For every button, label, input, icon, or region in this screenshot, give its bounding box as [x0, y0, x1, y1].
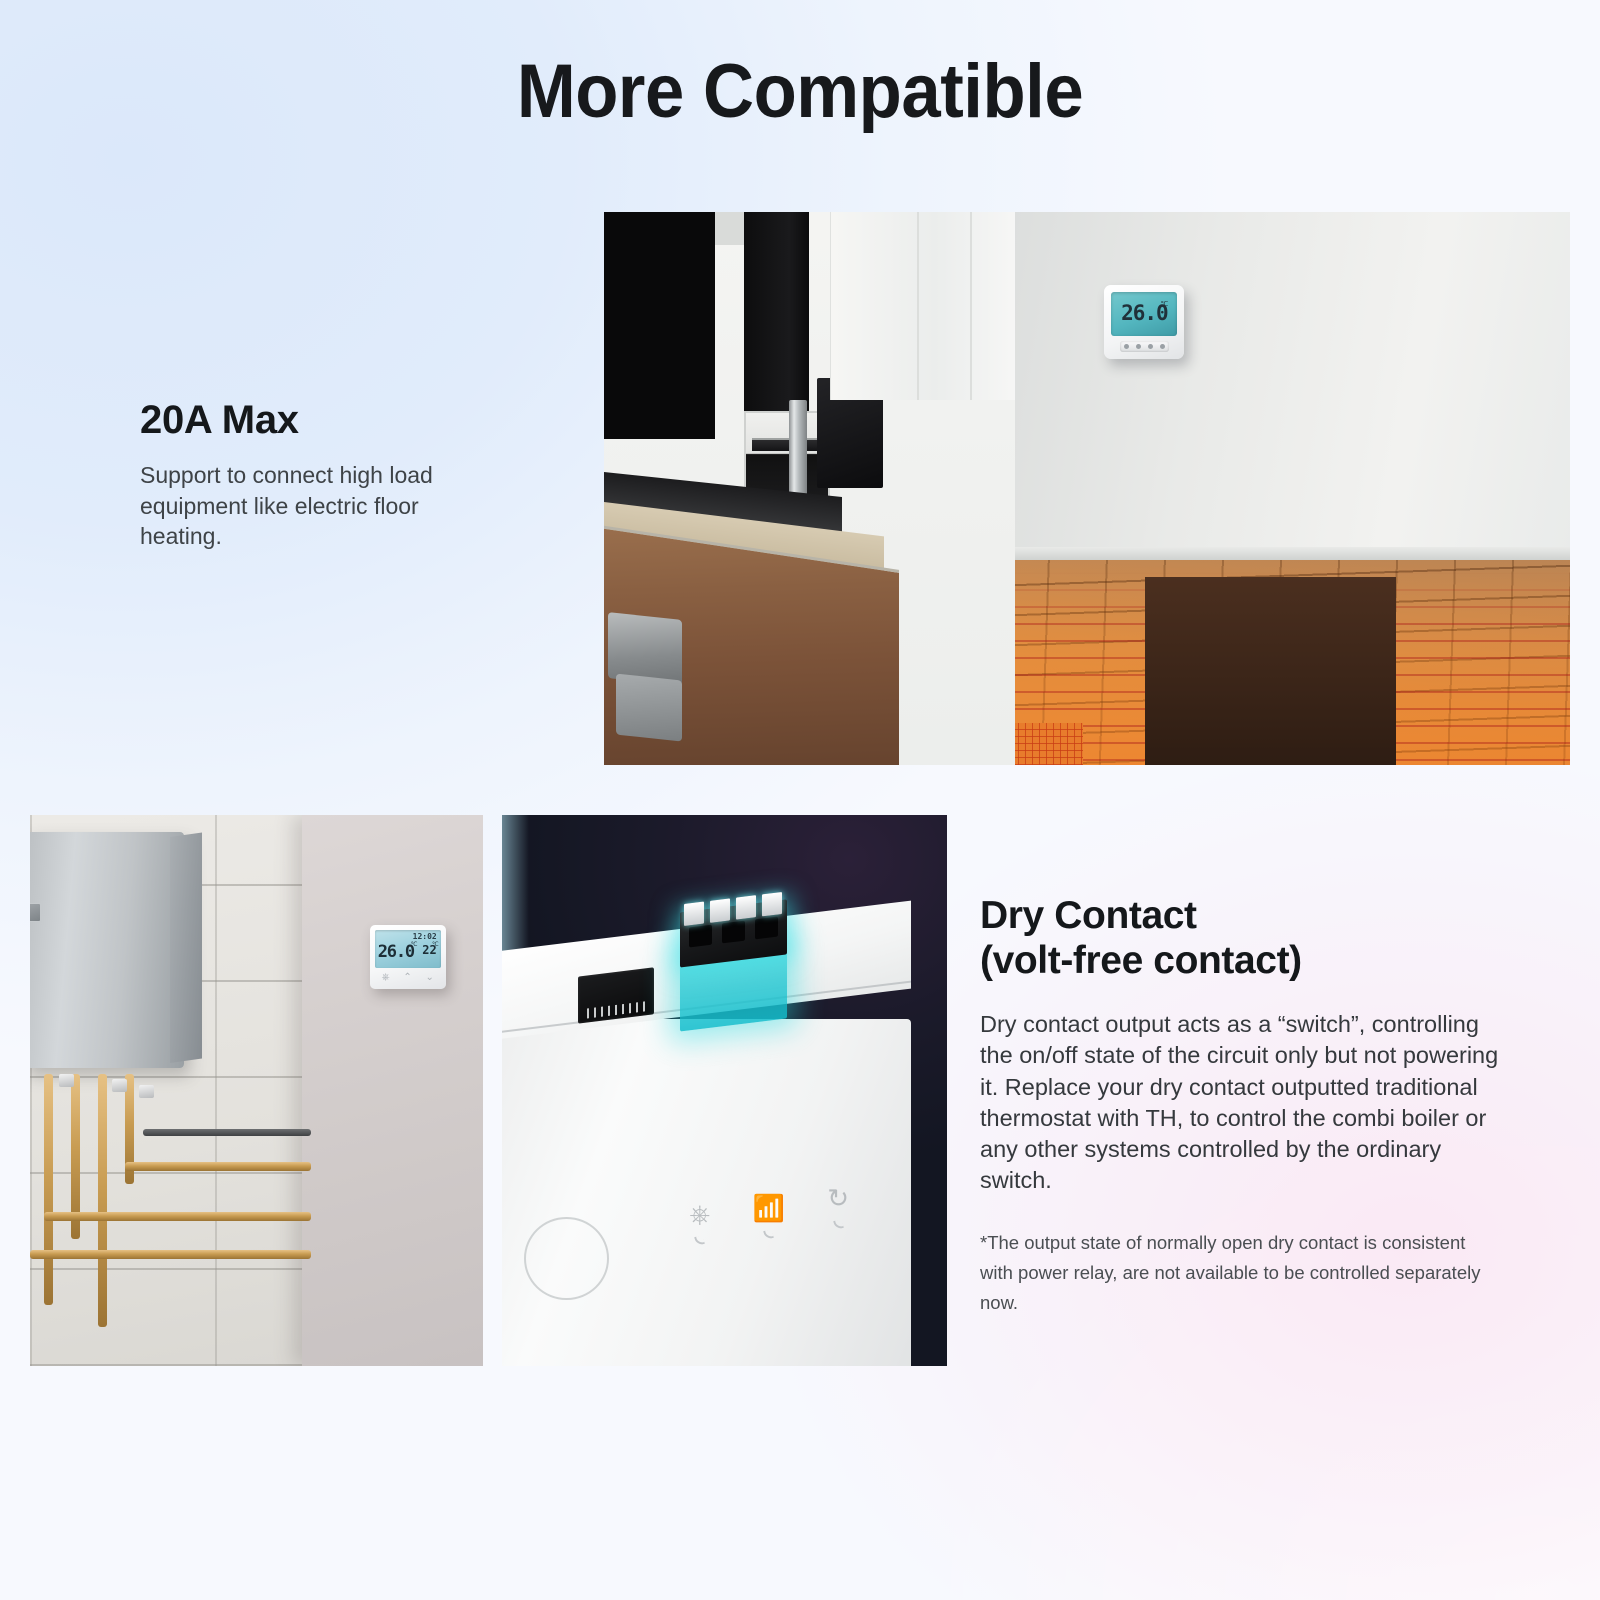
- feature-footnote-dry-contact: *The output state of normally open dry c…: [980, 1228, 1500, 1318]
- thermostat-touch-keys: ⎈ ⌃ ⌄: [375, 968, 441, 986]
- device-indicator-icons: ⎈ 📶 ↻: [676, 1201, 863, 1322]
- thermostat-key-icon: [1136, 344, 1141, 349]
- terminal-hole: [722, 921, 745, 944]
- copper-pipe-horizontal: [125, 1162, 311, 1171]
- kitchen-window-dark: [604, 212, 715, 439]
- boiler-side-face: [170, 833, 202, 1063]
- wifi-icon: 📶: [745, 1195, 794, 1239]
- kitchen-wall-trim: [715, 212, 744, 245]
- product-feature-page: More Compatible 20A Max Support to conne…: [0, 0, 1600, 1600]
- kitchen-upper-cabinets: [830, 212, 1015, 400]
- power-icon: ⎈: [382, 972, 390, 983]
- feature-heading-dry-contact-line2: (volt-free contact): [980, 938, 1500, 983]
- device-wiring-port: [578, 967, 654, 1023]
- copper-pipe-vertical: [98, 1074, 107, 1327]
- copper-pipe-vertical: [44, 1074, 53, 1305]
- terminal-hole: [755, 917, 778, 940]
- device-product-scene: ⎈ 📶 ↻: [502, 815, 947, 1366]
- feature-heading-dry-contact-line1: Dry Contact: [980, 893, 1500, 938]
- image-kitchen-floor-heating: 26.0 ℃: [604, 212, 1570, 765]
- pipe-valve: [139, 1085, 154, 1098]
- pipe-valve: [112, 1079, 127, 1092]
- kitchen-canister: [789, 400, 807, 494]
- auto-led: [833, 1219, 844, 1230]
- page-title: More Compatible: [56, 48, 1544, 135]
- kitchen-scene: 26.0 ℃: [604, 212, 1570, 765]
- feature-heading-dry-contact: Dry Contact (volt-free contact): [980, 893, 1500, 983]
- kitchen-baseboard: [990, 547, 1570, 561]
- thermostat-temperature-unit: ℃: [1161, 300, 1169, 308]
- device-button-circle: [524, 1217, 609, 1300]
- terminal-screw: [737, 895, 757, 919]
- auto-cycle-icon: ↻: [814, 1185, 863, 1229]
- feature-body-20a-max: Support to connect high load equipment l…: [140, 460, 500, 552]
- image-combi-boiler: 12:02 26.0 ℃ 22 ℃ ⎈ ⌃ ⌄: [30, 815, 483, 1366]
- thermostat-key-icon: [1160, 344, 1165, 349]
- thermostat-current-temperature: 26.0: [378, 942, 414, 962]
- power-icon: ⎈: [676, 1201, 725, 1245]
- combi-boiler-unit: [30, 832, 184, 1069]
- boiler-front-wall: [302, 815, 483, 1366]
- thermostat-button-strip: [1120, 341, 1169, 352]
- kitchen-under-counter-shadow: [1145, 577, 1396, 765]
- thermostat-clock: 12:02: [413, 932, 437, 941]
- image-dry-contact-device: ⎈ 📶 ↻: [502, 815, 947, 1366]
- kitchen-left-area: [604, 212, 1015, 765]
- feature-body-dry-contact: Dry contact output acts as a “switch”, c…: [980, 1009, 1500, 1195]
- thermostat-key-icon: [1124, 344, 1129, 349]
- boiler-room-scene: 12:02 26.0 ℃ 22 ℃ ⎈ ⌃ ⌄: [30, 815, 483, 1366]
- wifi-led: [764, 1229, 775, 1240]
- kitchen-sink-basin-2: [616, 673, 682, 741]
- terminal-screw: [711, 898, 731, 922]
- copper-pipe-horizontal: [30, 1250, 311, 1259]
- pipe-valve: [59, 1074, 74, 1087]
- boiler-control-panel: [30, 903, 41, 922]
- terminal-screw: [763, 892, 783, 916]
- feature-block-dry-contact: Dry Contact (volt-free contact) Dry cont…: [980, 893, 1500, 1317]
- feature-block-20a-max: 20A Max Support to connect high load equ…: [140, 398, 500, 552]
- thermostat-unit-secondary: ℃: [432, 941, 439, 948]
- thermostat-unit-primary: ℃: [411, 941, 418, 948]
- copper-pipe-horizontal: [44, 1212, 311, 1221]
- grey-pipe-horizontal: [143, 1129, 311, 1136]
- thermostat-key-icon: [1148, 344, 1153, 349]
- oven-handle: [752, 438, 821, 451]
- feature-heading-20a-max: 20A Max: [140, 398, 500, 443]
- wall-thermostat-boiler: 12:02 26.0 ℃ 22 ℃ ⎈ ⌃ ⌄: [370, 925, 446, 989]
- thermostat-lcd-screen: 12:02 26.0 ℃ 22 ℃: [375, 930, 441, 968]
- kitchen-right-wall: [1010, 212, 1570, 566]
- wall-thermostat-kitchen: 26.0 ℃: [1104, 285, 1184, 359]
- power-led: [694, 1235, 705, 1246]
- terminal-hole: [689, 925, 712, 948]
- chevron-down-icon: ⌄: [425, 972, 433, 983]
- chevron-up-icon: ⌃: [403, 972, 411, 983]
- thermostat-lcd-screen: 26.0 ℃: [1111, 292, 1177, 336]
- terminal-screw: [684, 901, 704, 925]
